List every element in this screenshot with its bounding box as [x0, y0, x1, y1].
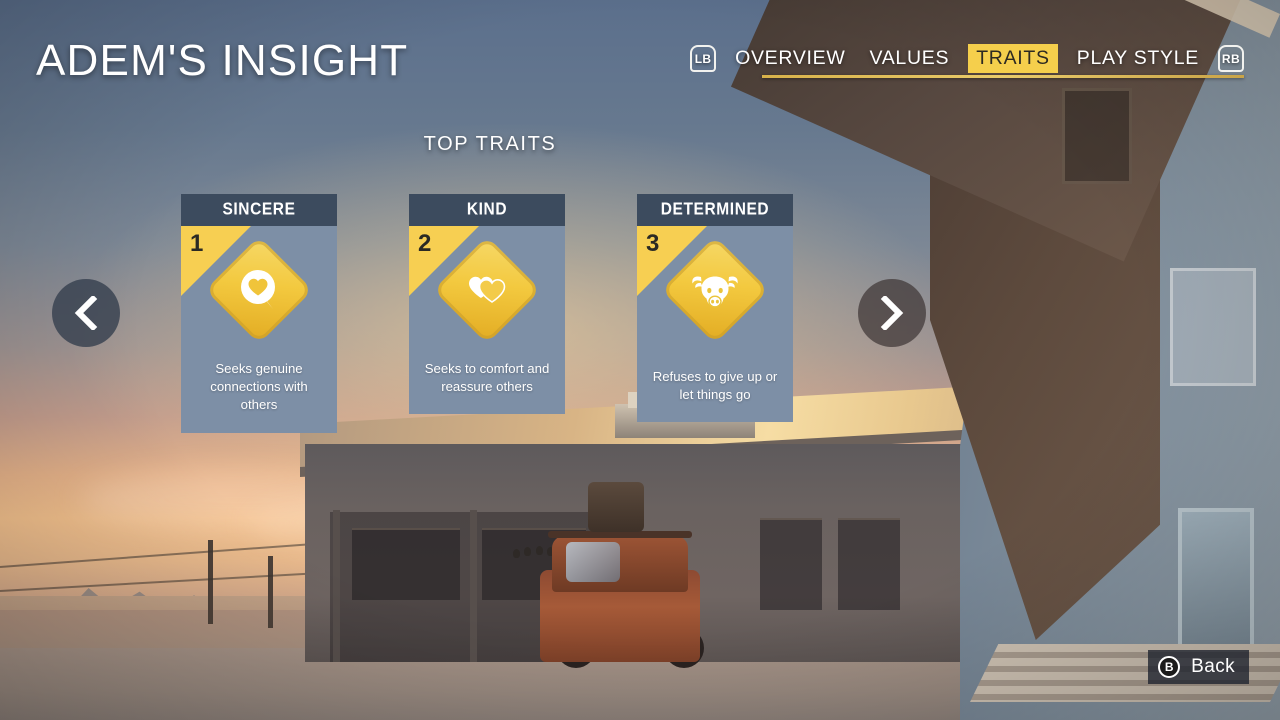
- trait-icon-wrap: [181, 226, 337, 354]
- double-heart-icon: [461, 264, 513, 316]
- trait-card-header: KIND: [409, 194, 565, 226]
- chevron-left-icon: [72, 296, 100, 330]
- chevron-right-icon: [878, 296, 906, 330]
- previous-page-button[interactable]: [52, 279, 120, 347]
- trait-name: SINCERE: [222, 200, 295, 220]
- tab-traits[interactable]: TRAITS: [968, 44, 1058, 73]
- rank-number: 2: [418, 230, 431, 258]
- section-title-label: TOP TRAITS: [424, 133, 857, 155]
- trait-card-header: DETERMINED: [637, 194, 793, 226]
- trait-card-body: 1 Seeks genuine connections with others: [181, 226, 337, 433]
- icon-diamond-frame: [433, 236, 540, 343]
- b-button-icon: B: [1158, 656, 1180, 678]
- trait-description: Refuses to give up or let things go: [637, 354, 793, 422]
- page-title: ADEM'S INSIGHT: [36, 36, 408, 86]
- trait-name: DETERMINED: [661, 200, 769, 220]
- tab-values[interactable]: VALUES: [864, 44, 954, 73]
- trait-description: Seeks genuine connections with others: [181, 354, 337, 433]
- tab-overview[interactable]: OVERVIEW: [730, 44, 850, 73]
- trait-icon-wrap: [637, 226, 793, 354]
- trait-description: Seeks to comfort and reassure others: [409, 354, 565, 414]
- right-bumper-badge[interactable]: RB: [1218, 45, 1244, 72]
- trait-card-body: 2 Seeks to comfort and reassure others: [409, 226, 565, 414]
- tab-underline: [762, 75, 1244, 78]
- trait-name: KIND: [467, 200, 507, 220]
- bull-head-icon: [688, 263, 742, 317]
- rank-number: 1: [190, 230, 203, 258]
- trait-icon-wrap: [409, 226, 565, 354]
- trait-card-body: 3: [637, 226, 793, 422]
- trait-card[interactable]: SINCERE 1 Seeks genuine connections with…: [181, 194, 337, 433]
- icon-diamond-frame: [205, 236, 312, 343]
- trait-card[interactable]: KIND 2 Seeks to comfort and reassure oth…: [409, 194, 565, 433]
- trait-card-header: SINCERE: [181, 194, 337, 226]
- section-title: TOP TRAITS: [0, 133, 1280, 156]
- hud-overlay: ADEM'S INSIGHT LB OVERVIEW VALUES TRAITS…: [0, 0, 1280, 720]
- next-page-button[interactable]: [858, 279, 926, 347]
- trait-card[interactable]: DETERMINED 3: [637, 194, 793, 433]
- speech-bubble-heart-icon: [233, 264, 285, 316]
- back-label: Back: [1191, 656, 1235, 678]
- tab-play-style[interactable]: PLAY STYLE: [1072, 44, 1204, 73]
- left-bumper-badge[interactable]: LB: [690, 45, 716, 72]
- rank-number: 3: [646, 230, 659, 258]
- tab-navigation[interactable]: LB OVERVIEW VALUES TRAITS PLAY STYLE RB: [690, 44, 1244, 73]
- icon-diamond-frame: [661, 236, 768, 343]
- back-prompt[interactable]: B Back: [1148, 650, 1249, 684]
- trait-card-list: SINCERE 1 Seeks genuine connections with…: [181, 194, 793, 433]
